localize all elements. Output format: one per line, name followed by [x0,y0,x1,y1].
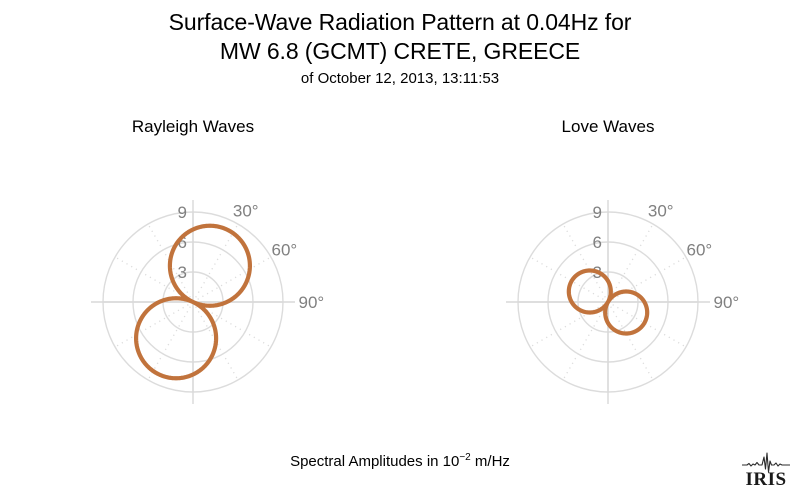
grid-spoke-60 [193,257,271,302]
caption-suffix: m/Hz [471,453,510,470]
theta-tick-label-30: 30° [648,202,674,221]
figure-caption: Spectral Amplitudes in 10−2 m/Hz [0,452,800,470]
iris-logo: IRIS [738,452,794,492]
figure-root: Surface-Wave Radiation Pattern at 0.04Hz… [0,0,800,496]
iris-wordmark: IRIS [745,469,786,490]
r-tick-label-6: 6 [593,233,602,252]
grid-spoke-240 [530,302,608,347]
polar-plots: 36930°60°90°36930°60°90° [0,0,800,496]
r-tick-label-9: 9 [178,203,187,222]
theta-tick-label-90: 90° [299,293,325,312]
grid-spoke-210 [148,302,193,380]
grid-spoke-30 [193,224,238,302]
caption-prefix: Spectral Amplitudes in 10 [290,453,459,470]
theta-tick-label-90: 90° [714,293,740,312]
grid-spoke-60 [608,257,686,302]
caption-exponent: −2 [459,452,470,463]
r-tick-label-9: 9 [593,203,602,222]
grid-spoke-240 [115,302,193,347]
r-tick-label-3: 3 [178,263,187,282]
polar-axes-rayleigh: 36930°60°90° [91,200,324,404]
theta-tick-label-60: 60° [687,240,713,259]
theta-tick-label-60: 60° [272,240,298,259]
theta-tick-label-30: 30° [233,202,259,221]
polar-axes-love: 36930°60°90° [506,200,739,404]
